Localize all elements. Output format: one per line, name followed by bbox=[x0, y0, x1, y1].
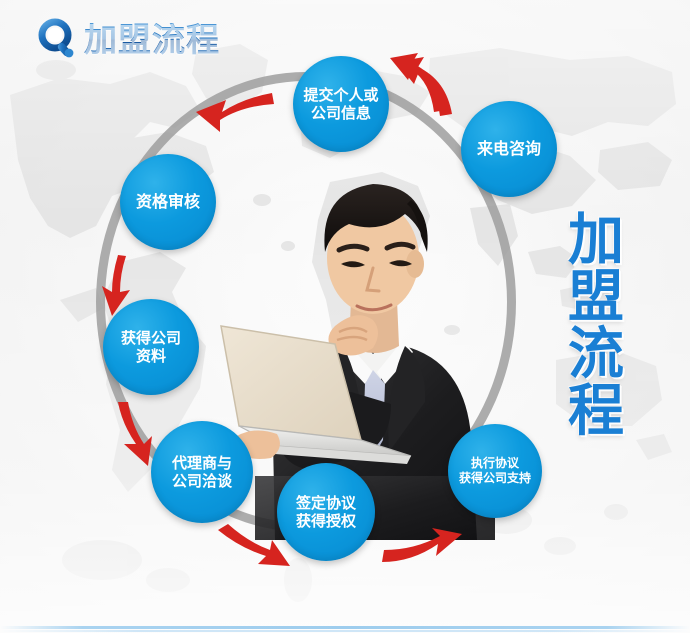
vertical-headline: 加 盟 流 程 bbox=[536, 212, 656, 440]
flow-node-label: 来电咨询 bbox=[471, 139, 547, 159]
vertical-headline-char: 加 bbox=[536, 212, 656, 269]
vertical-headline-char: 盟 bbox=[536, 269, 656, 326]
flow-node-agent-negotiation[interactable]: 代理商与 公司洽谈 bbox=[151, 421, 253, 523]
flow-node-label: 获得公司 资料 bbox=[115, 329, 187, 366]
q-magnifier-logo-icon bbox=[38, 18, 78, 60]
flow-node-execute-agreement-support[interactable]: 执行协议 获得公司支持 bbox=[448, 424, 542, 518]
flow-node-label: 执行协议 获得公司支持 bbox=[453, 456, 537, 485]
flow-node-label: 代理商与 公司洽谈 bbox=[166, 454, 238, 491]
page-header: 加盟流程 bbox=[38, 18, 220, 60]
flow-node-submit-info[interactable]: 提交个人或 公司信息 bbox=[293, 56, 389, 152]
flow-node-label: 资格审核 bbox=[130, 192, 206, 212]
arrow-1 bbox=[390, 53, 452, 116]
flow-node-call-consult[interactable]: 来电咨询 bbox=[461, 101, 557, 197]
vertical-headline-char: 程 bbox=[536, 383, 656, 440]
bottom-divider-soft bbox=[0, 630, 690, 632]
arrow-2 bbox=[196, 93, 274, 132]
arrow-6 bbox=[382, 528, 462, 562]
flow-node-sign-agreement[interactable]: 签定协议 获得授权 bbox=[277, 463, 375, 561]
bottom-divider bbox=[0, 626, 690, 629]
flow-node-qualification-review[interactable]: 资格审核 bbox=[120, 154, 216, 250]
flow-node-receive-company-materials[interactable]: 获得公司 资料 bbox=[103, 299, 199, 395]
franchise-process-banner: 提交个人或 公司信息 来电咨询 资格审核 获得公司 资料 代理商与 公司洽谈 签… bbox=[0, 0, 690, 633]
vertical-headline-char: 流 bbox=[536, 326, 656, 383]
flow-node-label: 签定协议 获得授权 bbox=[290, 494, 362, 531]
page-title: 加盟流程 bbox=[84, 23, 220, 56]
arrow-4 bbox=[118, 402, 152, 466]
arrow-5 bbox=[218, 524, 290, 566]
flow-node-label: 提交个人或 公司信息 bbox=[297, 86, 384, 123]
